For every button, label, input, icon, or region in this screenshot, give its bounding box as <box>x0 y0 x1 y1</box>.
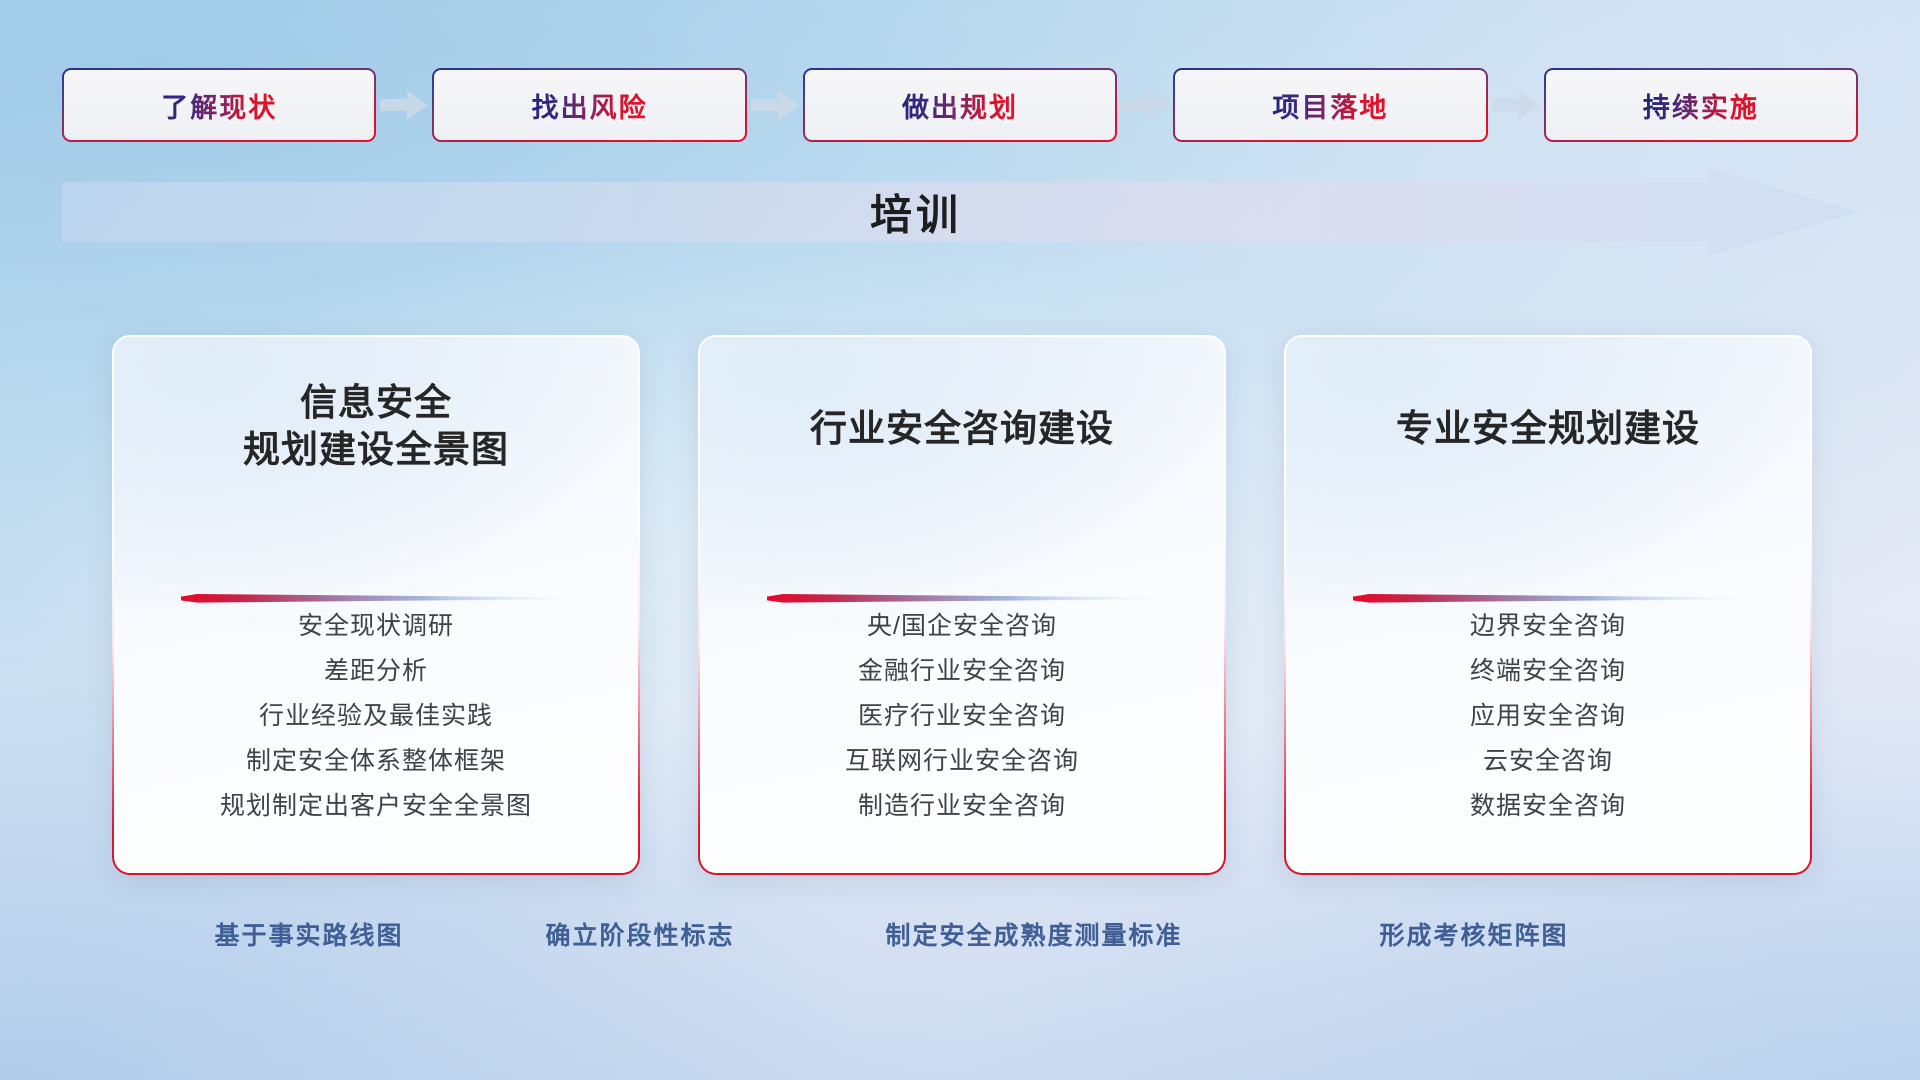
card-information-security-blueprint[interactable]: 信息安全 规划建设全景图 <box>112 335 640 875</box>
card-1-title-line-1: 信息安全 <box>134 379 618 426</box>
step-arrow-icon-3 <box>1117 88 1173 122</box>
card-row: 信息安全 规划建设全景图 <box>112 335 1812 875</box>
step-pill-3[interactable]: 做出规划 <box>803 68 1117 142</box>
card-3-title-line-1: 专业安全规划建设 <box>1306 405 1790 452</box>
list-item: 制定安全体系整体框架 <box>132 739 620 784</box>
process-step-row: 了解现状 找出风险 做出规划 <box>62 68 1858 142</box>
card-2-list: 央/国企安全咨询 金融行业安全咨询 医疗行业安全咨询 互联网行业安全咨询 制造行… <box>700 604 1224 829</box>
list-item: 数据安全咨询 <box>1304 784 1792 829</box>
slide-stage: 了解现状 找出风险 做出规划 <box>0 0 1920 1080</box>
card-1-title: 信息安全 规划建设全景图 <box>114 379 638 474</box>
card-2-divider <box>767 594 1157 604</box>
step-pill-2-inner: 找出风险 <box>434 70 744 140</box>
list-item: 云安全咨询 <box>1304 739 1792 784</box>
list-item: 制造行业安全咨询 <box>718 784 1206 829</box>
card-2-divider-wrap <box>700 594 1224 604</box>
list-item: 金融行业安全咨询 <box>718 649 1206 694</box>
list-item: 行业经验及最佳实践 <box>132 694 620 739</box>
step-arrow-icon-2 <box>747 88 803 122</box>
step-pill-1[interactable]: 了解现状 <box>62 68 376 142</box>
card-3-title: 专业安全规划建设 <box>1286 405 1810 452</box>
step-pill-5-inner: 持续实施 <box>1546 70 1856 140</box>
list-item: 安全现状调研 <box>132 604 620 649</box>
step-label-2: 找出风险 <box>532 86 648 125</box>
training-banner: 培训 <box>62 168 1860 256</box>
step-label-1: 了解现状 <box>161 86 277 125</box>
step-pill-5[interactable]: 持续实施 <box>1544 68 1858 142</box>
list-item: 规划制定出客户安全全景图 <box>132 784 620 829</box>
footer-label-row: 基于事实路线图 确立阶段性标志 制定安全成熟度测量标准 形成考核矩阵图 <box>62 916 1858 956</box>
card-1-inner: 信息安全 规划建设全景图 <box>114 337 638 873</box>
list-item: 差距分析 <box>132 649 620 694</box>
card-3-list: 边界安全咨询 终端安全咨询 应用安全咨询 云安全咨询 数据安全咨询 <box>1286 604 1810 829</box>
footer-label-1: 基于事实路线图 <box>214 916 403 952</box>
step-arrow-icon-1 <box>376 88 432 122</box>
footer-label-2: 确立阶段性标志 <box>545 916 734 952</box>
list-item: 央/国企安全咨询 <box>718 604 1206 649</box>
card-1-divider <box>181 594 571 604</box>
footer-label-3: 制定安全成熟度测量标准 <box>885 916 1182 952</box>
banner-title: 培训 <box>62 182 1860 243</box>
list-item: 终端安全咨询 <box>1304 649 1792 694</box>
footer-label-4: 形成考核矩阵图 <box>1379 916 1568 952</box>
step-label-4: 项目落地 <box>1272 86 1388 125</box>
card-2-title-line-1: 行业安全咨询建设 <box>720 405 1204 452</box>
card-professional-security-planning[interactable]: 专业安全规划建设 <box>1284 335 1812 875</box>
list-item: 医疗行业安全咨询 <box>718 694 1206 739</box>
card-3-inner: 专业安全规划建设 <box>1286 337 1810 873</box>
card-1-divider-wrap <box>114 594 638 604</box>
card-industry-security-consulting[interactable]: 行业安全咨询建设 <box>698 335 1226 875</box>
list-item: 边界安全咨询 <box>1304 604 1792 649</box>
step-pill-4-inner: 项目落地 <box>1175 70 1485 140</box>
step-pill-2[interactable]: 找出风险 <box>432 68 746 142</box>
step-label-5: 持续实施 <box>1643 86 1759 125</box>
card-2-title: 行业安全咨询建设 <box>700 405 1224 452</box>
card-3-divider-wrap <box>1286 594 1810 604</box>
step-pill-1-inner: 了解现状 <box>64 70 374 140</box>
card-1-title-line-2: 规划建设全景图 <box>134 426 618 473</box>
list-item: 互联网行业安全咨询 <box>718 739 1206 784</box>
card-2-inner: 行业安全咨询建设 <box>700 337 1224 873</box>
step-pill-4[interactable]: 项目落地 <box>1173 68 1487 142</box>
card-1-list: 安全现状调研 差距分析 行业经验及最佳实践 制定安全体系整体框架 规划制定出客户… <box>114 604 638 829</box>
list-item: 应用安全咨询 <box>1304 694 1792 739</box>
step-pill-3-inner: 做出规划 <box>805 70 1115 140</box>
step-arrow-icon-4 <box>1488 88 1544 122</box>
step-label-3: 做出规划 <box>902 86 1018 125</box>
card-3-divider <box>1353 594 1743 604</box>
